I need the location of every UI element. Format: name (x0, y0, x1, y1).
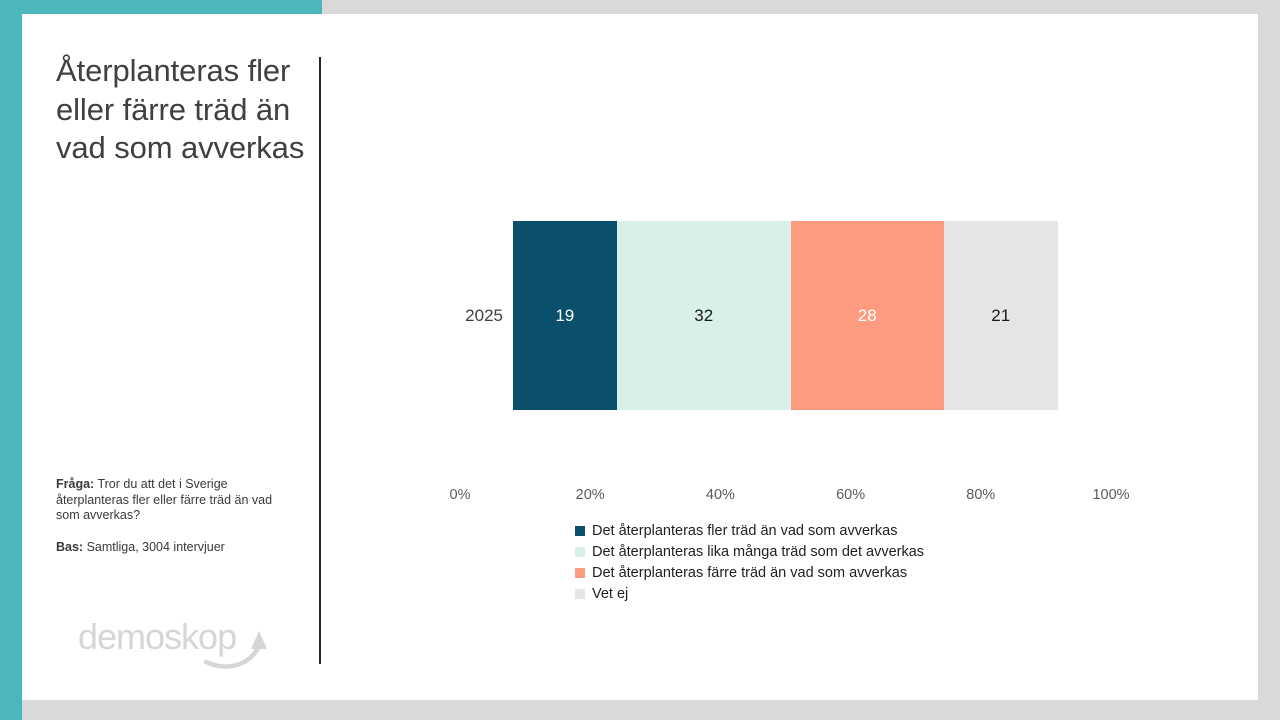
footnote-question: Fråga: Tror du att det i Sverige återpla… (56, 477, 292, 524)
legend-label-farre: Det återplanteras färre träd än vad som … (592, 565, 907, 581)
accent-band-top (0, 0, 322, 14)
logo-wordmark-text: demoskop (78, 616, 236, 657)
stacked-bar-2025: 19 32 28 21 (513, 221, 1058, 410)
page-title: Återplanteras fler eller färre träd än v… (56, 52, 306, 168)
legend-swatch-farre (575, 568, 585, 578)
legend-item-vet-ej[interactable]: Vet ej (575, 583, 1095, 604)
x-tick-0: 0% (450, 487, 471, 503)
slide-root: Återplanteras fler eller färre träd än v… (0, 0, 1280, 720)
footnote-base-text: Samtliga, 3004 intervjuer (83, 540, 225, 554)
vertical-divider (319, 57, 321, 664)
x-tick-60: 60% (836, 487, 865, 503)
bar-value-fler: 19 (555, 306, 574, 326)
bar-value-vet-ej: 21 (991, 306, 1010, 326)
sidebar: Återplanteras fler eller färre träd än v… (56, 52, 306, 672)
x-tick-100: 100% (1092, 487, 1129, 503)
legend-item-farre[interactable]: Det återplanteras färre träd än vad som … (575, 562, 1095, 583)
legend-swatch-lika-manga (575, 547, 585, 557)
accent-band-left (0, 0, 22, 720)
legend-label-fler: Det återplanteras fler träd än vad som a… (592, 523, 897, 539)
category-label-2025: 2025 (435, 306, 503, 326)
legend-item-lika-manga[interactable]: Det återplanteras lika många träd som de… (575, 541, 1095, 562)
demoskop-logo: demoskop (78, 615, 278, 675)
bar-segment-lika-manga[interactable]: 32 (617, 221, 791, 410)
bar-value-farre: 28 (858, 306, 877, 326)
chart-legend: Det återplanteras fler träd än vad som a… (575, 520, 1095, 604)
bar-value-lika-manga: 32 (694, 306, 713, 326)
legend-swatch-fler (575, 526, 585, 536)
logo-arrowhead-icon (251, 631, 267, 649)
x-tick-20: 20% (576, 487, 605, 503)
footnote-base: Bas: Samtliga, 3004 intervjuer (56, 540, 292, 556)
legend-label-vet-ej: Vet ej (592, 586, 628, 602)
footnote-base-label: Bas: (56, 540, 83, 554)
x-axis: 0% 20% 40% 60% 80% 100% (460, 487, 1111, 507)
footnote-question-label: Fråga: (56, 477, 94, 491)
legend-label-lika-manga: Det återplanteras lika många träd som de… (592, 544, 924, 560)
bar-segment-fler[interactable]: 19 (513, 221, 617, 410)
bar-segment-vet-ej[interactable]: 21 (944, 221, 1058, 410)
x-tick-80: 80% (966, 487, 995, 503)
x-tick-40: 40% (706, 487, 735, 503)
logo-svg: demoskop (78, 615, 278, 675)
chart: 2025 19 32 28 21 0% 20% 40% 60% 80% 100% (380, 40, 1210, 660)
legend-swatch-vet-ej (575, 589, 585, 599)
legend-item-fler[interactable]: Det återplanteras fler träd än vad som a… (575, 520, 1095, 541)
footnotes: Fråga: Tror du att det i Sverige återpla… (56, 477, 292, 555)
bar-segment-farre[interactable]: 28 (791, 221, 944, 410)
